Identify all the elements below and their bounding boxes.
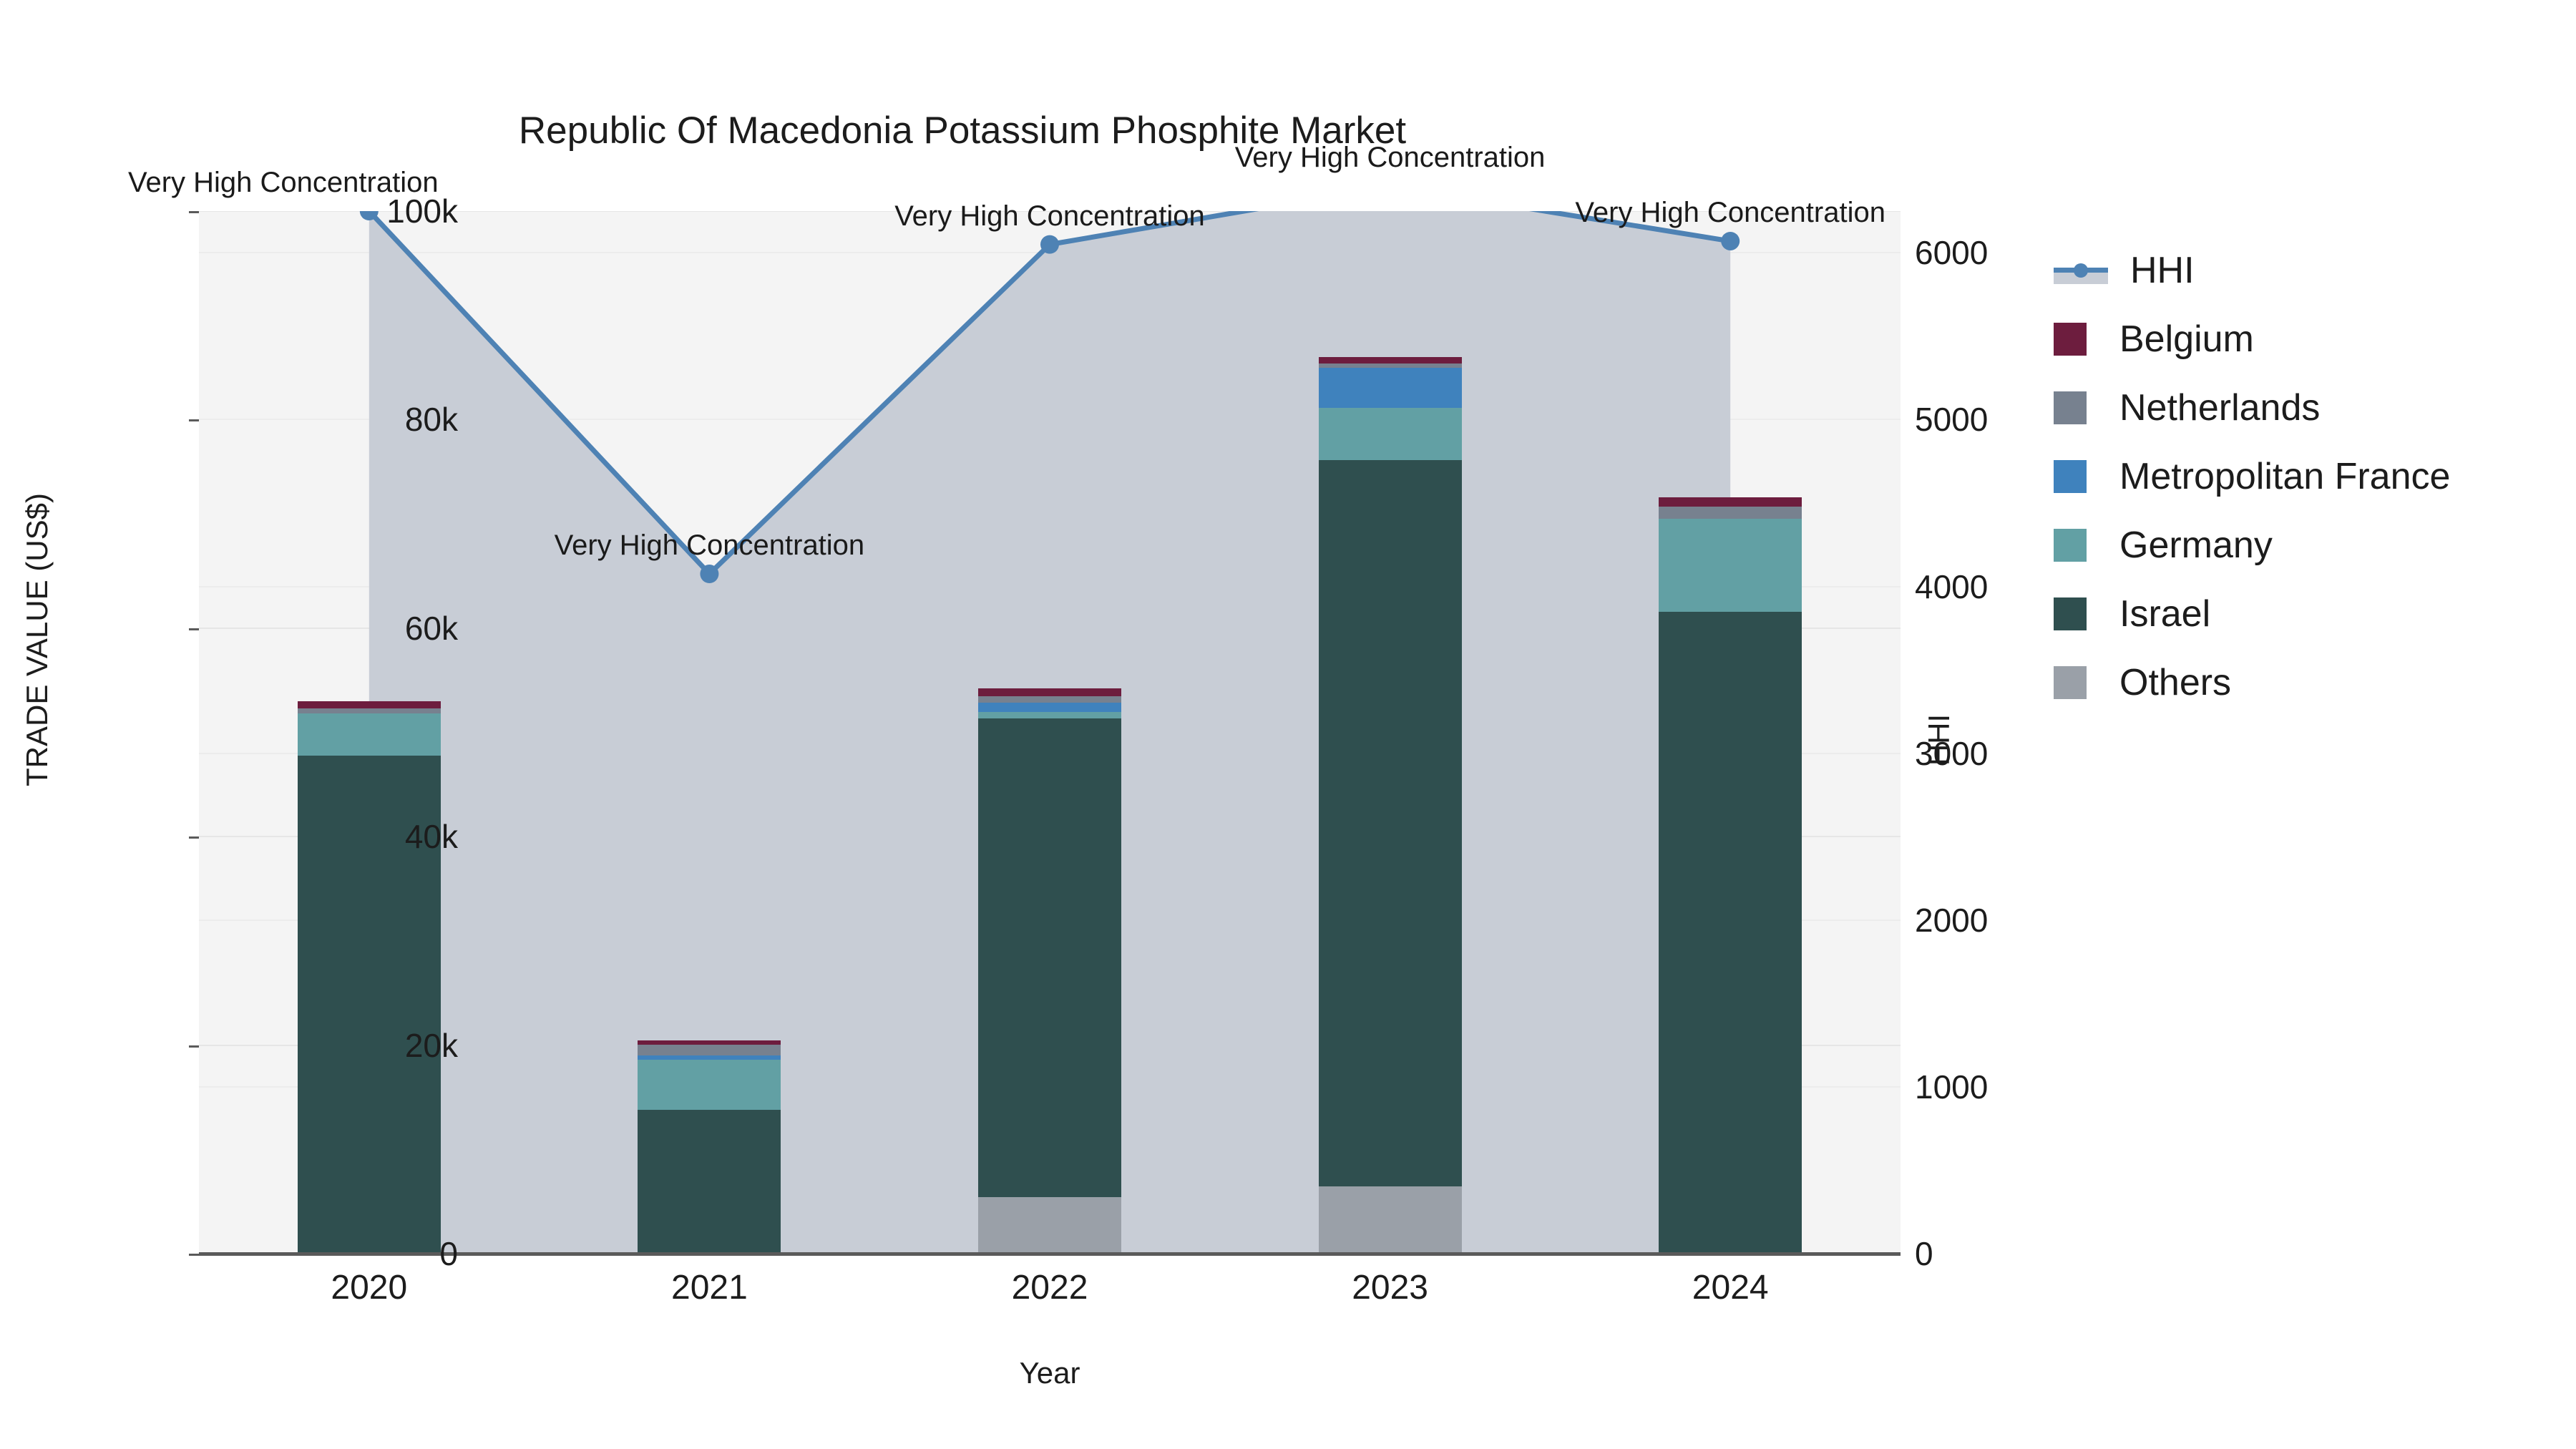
y-tick-label-left: 80k	[405, 400, 458, 439]
y-tick-label-right: 0	[1915, 1234, 1933, 1273]
chart-figure: Republic Of Macedonia Potassium Phosphit…	[0, 0, 2576, 1449]
y-tick-label-right: 2000	[1915, 901, 1988, 940]
legend-item-germany[interactable]: Germany	[2054, 511, 2569, 580]
legend-swatch-icon	[2054, 391, 2087, 424]
legend-swatch-icon	[2054, 666, 2087, 699]
chart-title-line-1: Republic Of Macedonia Potassium Phosphit…	[0, 106, 1925, 156]
legend-swatch-icon	[2054, 460, 2087, 493]
y-tick-label-left: 20k	[405, 1026, 458, 1065]
hhi-line-overlay	[199, 211, 1901, 1254]
legend-item-metropolitan-france[interactable]: Metropolitan France	[2054, 442, 2569, 511]
x-tick-label-2020: 2020	[331, 1268, 407, 1307]
y-tick-label-right: 6000	[1915, 233, 1988, 272]
x-tick-label-2021: 2021	[671, 1268, 748, 1307]
y-tick-label-right: 3000	[1915, 734, 1988, 773]
y-tick-label-left: 0	[439, 1234, 458, 1273]
hhi-point-2021[interactable]	[700, 565, 718, 583]
legend-label: Germany	[2119, 524, 2273, 567]
legend-item-hhi[interactable]: HHI	[2054, 236, 2569, 305]
y-axis-label-left: TRADE VALUE (US$)	[20, 447, 54, 833]
y-tick-mark-left	[189, 1045, 199, 1048]
annotation-2024: Very High Concentration	[1575, 197, 1885, 229]
y-tick-mark-left	[189, 211, 199, 213]
y-tick-mark-left	[189, 628, 199, 630]
legend-label: Netherlands	[2119, 386, 2320, 429]
legend-label: Belgium	[2119, 318, 2254, 361]
y-tick-label-right: 4000	[1915, 567, 1988, 606]
legend-label: Others	[2119, 661, 2231, 704]
x-tick-label-2023: 2023	[1352, 1268, 1428, 1307]
legend: HHIBelgiumNetherlandsMetropolitan France…	[2054, 236, 2569, 717]
hhi-point-2022[interactable]	[1040, 235, 1059, 254]
x-axis-label: Year	[199, 1356, 1901, 1390]
legend-swatch-icon	[2054, 597, 2087, 630]
y-tick-label-right: 5000	[1915, 400, 1988, 439]
legend-swatch-icon	[2054, 323, 2087, 356]
plot-area	[199, 211, 1901, 1254]
legend-item-belgium[interactable]: Belgium	[2054, 305, 2569, 374]
annotation-2021: Very High Concentration	[555, 530, 865, 562]
annotation-2020: Very High Concentration	[128, 167, 439, 199]
y-tick-label-left: 40k	[405, 817, 458, 856]
y-tick-label-left: 60k	[405, 609, 458, 648]
annotation-2023: Very High Concentration	[1235, 142, 1546, 174]
legend-item-others[interactable]: Others	[2054, 648, 2569, 717]
y-tick-mark-left	[189, 1254, 199, 1256]
legend-item-israel[interactable]: Israel	[2054, 580, 2569, 648]
legend-swatch-icon	[2054, 529, 2087, 562]
hhi-point-2024[interactable]	[1721, 232, 1740, 250]
x-tick-label-2024: 2024	[1692, 1268, 1769, 1307]
legend-label: HHI	[2130, 249, 2195, 292]
y-tick-mark-left	[189, 836, 199, 839]
legend-item-netherlands[interactable]: Netherlands	[2054, 374, 2569, 442]
legend-label: Israel	[2119, 592, 2210, 635]
y-tick-mark-left	[189, 419, 199, 421]
hhi-line	[369, 211, 1730, 574]
hhi-line-icon	[2054, 254, 2108, 287]
x-tick-label-2022: 2022	[1012, 1268, 1088, 1307]
annotation-2022: Very High Concentration	[894, 200, 1205, 233]
y-tick-label-right: 1000	[1915, 1068, 1988, 1106]
legend-label: Metropolitan France	[2119, 455, 2450, 498]
